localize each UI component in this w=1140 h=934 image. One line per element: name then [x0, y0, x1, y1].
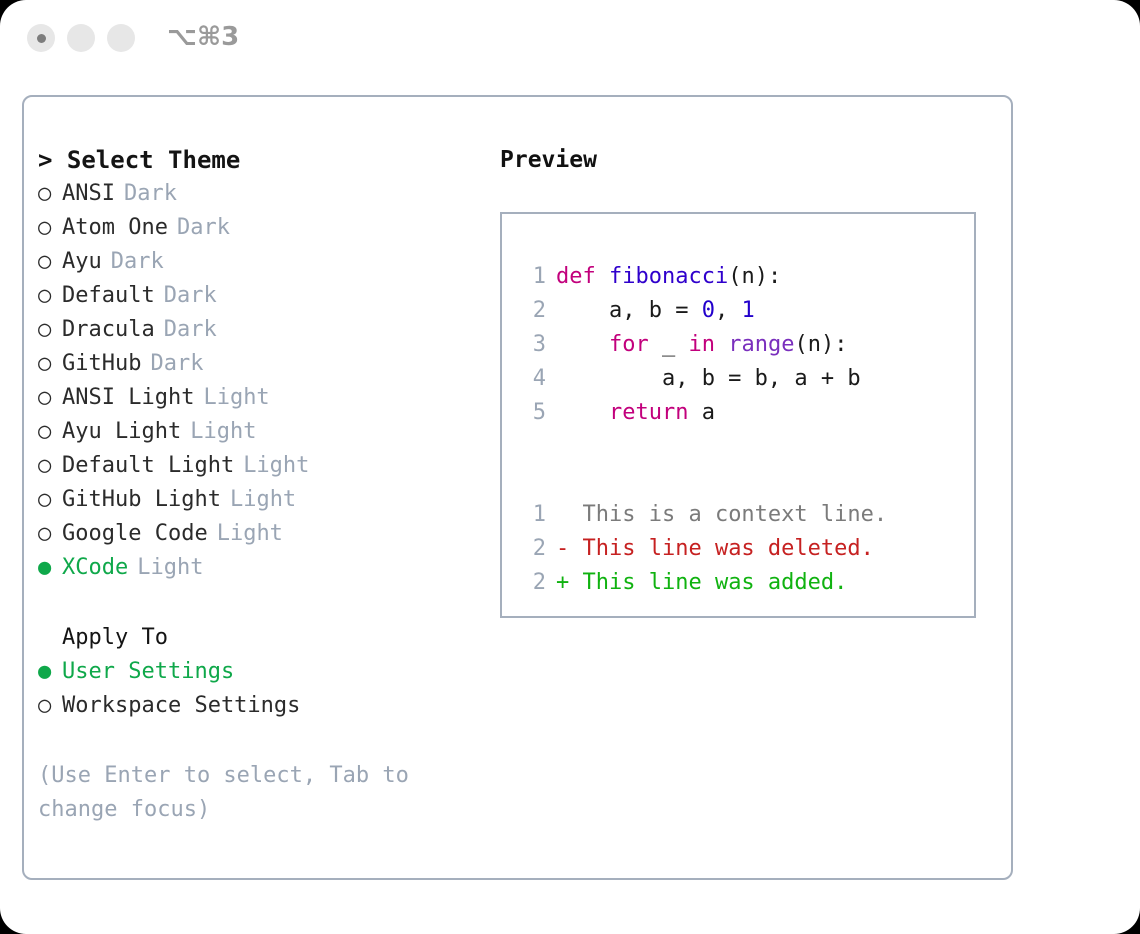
theme-list-item[interactable]: ○Ayu LightLight: [38, 415, 488, 449]
minimize-button[interactable]: [67, 24, 95, 52]
theme-kind-badge: Light: [203, 381, 269, 415]
theme-kind-badge: Dark: [177, 211, 230, 245]
theme-kind-badge: Dark: [111, 245, 164, 279]
theme-name: ANSI Light: [62, 381, 194, 415]
code-token: [715, 332, 728, 357]
theme-kind-badge: Light: [190, 415, 256, 449]
diff-line-deleted: 2- This line was deleted.: [520, 532, 966, 566]
line-number: 2: [520, 294, 546, 328]
preview-column: Preview 1def fibonacci(n): 2 a, b = 0, 1…: [500, 143, 1000, 618]
theme-list-item[interactable]: ○ANSI LightLight: [38, 381, 488, 415]
radio-icon: ○: [38, 449, 62, 483]
code-line: 1def fibonacci(n):: [520, 260, 966, 294]
apply-to-item-workspace-settings[interactable]: ○Workspace Settings: [38, 689, 488, 723]
theme-name: Default Light: [62, 449, 234, 483]
theme-name: ANSI: [62, 177, 115, 211]
diff-line-added: 2+ This line was added.: [520, 566, 966, 600]
code-token: [556, 400, 609, 425]
line-number: 4: [520, 362, 546, 396]
app-window: ⌥⌘3 > Select Theme ○ANSIDark ○Atom OneDa…: [0, 0, 1140, 934]
theme-name: GitHub: [62, 347, 141, 381]
theme-name: Atom One: [62, 211, 168, 245]
theme-kind-badge: Dark: [150, 347, 203, 381]
apply-to-label: Workspace Settings: [62, 689, 300, 723]
diff-text: This line was deleted.: [569, 532, 874, 566]
theme-list-item[interactable]: ○ANSIDark: [38, 177, 488, 211]
code-token: for: [609, 332, 649, 357]
traffic-lights: [27, 24, 135, 52]
spacer: [38, 585, 488, 621]
theme-list-item[interactable]: ○DraculaDark: [38, 313, 488, 347]
code-token: (n):: [728, 264, 781, 289]
radio-icon: ○: [38, 313, 62, 347]
code-line: 4 a, b = b, a + b: [520, 362, 966, 396]
code-token: [556, 332, 609, 357]
zoom-button[interactable]: [107, 24, 135, 52]
close-icon: [37, 34, 46, 43]
theme-list[interactable]: ○ANSIDark ○Atom OneDark ○AyuDark ○Defaul…: [38, 177, 488, 585]
code-token: [596, 264, 609, 289]
radio-icon: ○: [38, 517, 62, 551]
theme-list-item-selected[interactable]: ●XCodeLight: [38, 551, 488, 585]
code-token: a: [688, 400, 715, 425]
diff-text: This line was added.: [569, 566, 847, 600]
radio-icon-selected: ●: [38, 551, 62, 585]
radio-icon: ○: [38, 245, 62, 279]
line-number: 1: [520, 498, 546, 532]
radio-icon: ○: [38, 347, 62, 381]
theme-name: GitHub Light: [62, 483, 221, 517]
code-blank-line: [520, 464, 966, 498]
apply-to-item-user-settings[interactable]: ●User Settings: [38, 655, 488, 689]
select-theme-heading: > Select Theme: [38, 143, 488, 177]
theme-kind-badge: Light: [217, 517, 283, 551]
theme-name: Default: [62, 279, 155, 313]
theme-kind-badge: Dark: [164, 279, 217, 313]
keyboard-hint-text: (Use Enter to select, Tab to change focu…: [38, 759, 448, 827]
code-token: 1: [741, 298, 754, 323]
theme-list-item[interactable]: ○Atom OneDark: [38, 211, 488, 245]
preview-code-content: 1def fibonacci(n): 2 a, b = 0, 1 3 for _…: [520, 260, 966, 600]
diff-marker: +: [556, 566, 569, 600]
theme-kind-badge: Light: [137, 551, 203, 585]
theme-selector-column: > Select Theme ○ANSIDark ○Atom OneDark ○…: [38, 143, 488, 827]
radio-icon: ○: [38, 415, 62, 449]
radio-icon: ○: [38, 279, 62, 313]
radio-icon: ○: [38, 177, 62, 211]
radio-icon: ○: [38, 211, 62, 245]
preview-heading: Preview: [500, 143, 1000, 177]
line-number: 1: [520, 260, 546, 294]
theme-name: Google Code: [62, 517, 208, 551]
code-blank-line: [520, 430, 966, 464]
code-line: 5 return a: [520, 396, 966, 430]
code-token: return: [609, 400, 688, 425]
theme-list-item[interactable]: ○AyuDark: [38, 245, 488, 279]
code-token: in: [688, 332, 715, 357]
line-number: 2: [520, 532, 546, 566]
theme-list-item[interactable]: ○Default LightLight: [38, 449, 488, 483]
theme-list-item[interactable]: ○DefaultDark: [38, 279, 488, 313]
theme-kind-badge: Dark: [164, 313, 217, 347]
radio-icon: ○: [38, 381, 62, 415]
code-token: def: [556, 264, 596, 289]
radio-icon-selected: ●: [38, 655, 62, 689]
diff-marker: -: [556, 532, 569, 566]
preview-code-box: 1def fibonacci(n): 2 a, b = 0, 1 3 for _…: [500, 212, 976, 618]
theme-kind-badge: Light: [243, 449, 309, 483]
code-token: 0: [702, 298, 715, 323]
code-line: 2 a, b = 0, 1: [520, 294, 966, 328]
diff-text: This is a context line.: [569, 498, 887, 532]
code-token: ,: [715, 298, 742, 323]
apply-to-list[interactable]: ●User Settings ○Workspace Settings: [38, 655, 488, 723]
theme-kind-badge: Dark: [124, 177, 177, 211]
apply-to-label: User Settings: [62, 655, 234, 689]
theme-list-item[interactable]: ○GitHubDark: [38, 347, 488, 381]
keyboard-shortcut-label: ⌥⌘3: [167, 22, 239, 52]
code-token: fibonacci: [609, 264, 728, 289]
close-button[interactable]: [27, 24, 55, 52]
theme-name: Ayu: [62, 245, 102, 279]
code-token: _: [649, 332, 689, 357]
apply-to-heading: Apply To: [38, 621, 488, 655]
title-bar: ⌥⌘3: [0, 0, 1140, 78]
theme-list-item[interactable]: ○Google CodeLight: [38, 517, 488, 551]
line-number: 2: [520, 566, 546, 600]
line-number: 5: [520, 396, 546, 430]
theme-list-item[interactable]: ○GitHub LightLight: [38, 483, 488, 517]
code-token: (n):: [794, 332, 847, 357]
line-number: 3: [520, 328, 546, 362]
diff-marker: [556, 498, 569, 532]
code-token: a, b =: [556, 298, 702, 323]
theme-kind-badge: Light: [230, 483, 296, 517]
code-token: range: [728, 332, 794, 357]
code-line: 3 for _ in range(n):: [520, 328, 966, 362]
diff-line-context: 1 This is a context line.: [520, 498, 966, 532]
code-token: a, b = b, a + b: [556, 366, 861, 391]
theme-name: Ayu Light: [62, 415, 181, 449]
theme-name: Dracula: [62, 313, 155, 347]
radio-icon: ○: [38, 689, 62, 723]
main-panel: > Select Theme ○ANSIDark ○Atom OneDark ○…: [22, 95, 1013, 880]
theme-name: XCode: [62, 551, 128, 585]
radio-icon: ○: [38, 483, 62, 517]
